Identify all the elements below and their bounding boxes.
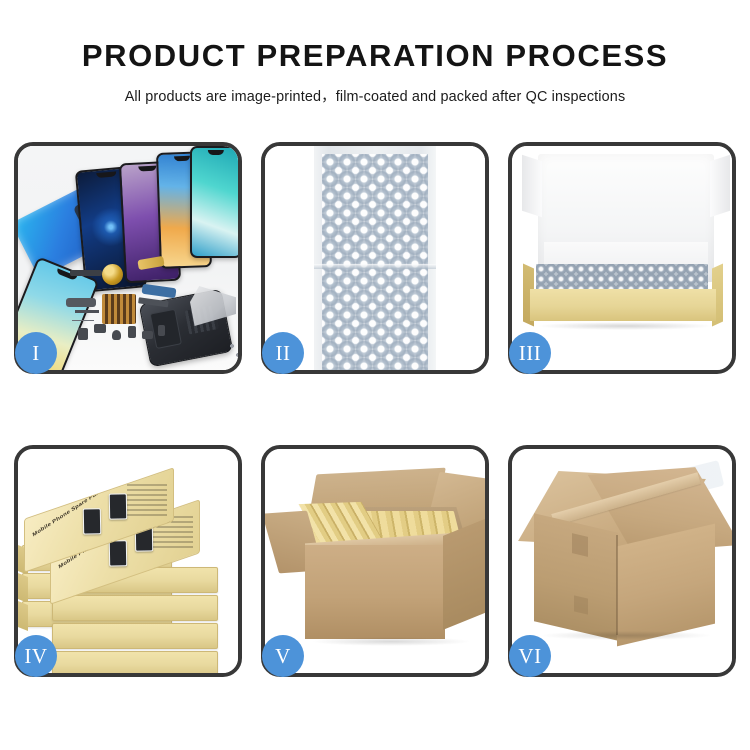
carton-handle-tab <box>574 595 588 614</box>
panel-step-5: V <box>261 445 489 677</box>
carton-handle-tab <box>572 533 588 557</box>
box-shadow <box>536 322 714 330</box>
carton-front-face <box>305 545 445 639</box>
phone-notch <box>174 156 190 162</box>
inner-box-front <box>530 289 716 321</box>
panel-3-image <box>512 146 732 370</box>
ribbon-connector-part <box>70 270 102 276</box>
chip-array-part <box>102 294 136 324</box>
panel-step-4: Mobile Phone Spare Parts Mobile Phone Sp… <box>14 445 242 677</box>
phone-notch <box>208 150 224 155</box>
panel-step-1: I <box>14 142 242 374</box>
phone-notch <box>96 171 116 178</box>
carton-corner-seam <box>616 535 618 635</box>
carton-shadow <box>311 637 471 646</box>
screws-part <box>228 342 238 360</box>
carton-side-face <box>617 524 715 647</box>
retail-box <box>52 651 218 673</box>
page-title: PRODUCT PREPARATION PROCESS <box>0 38 750 74</box>
carton-shadow <box>542 631 710 640</box>
panel-2-image <box>265 146 485 370</box>
carton-side-face <box>443 518 485 630</box>
panel-step-6: VI <box>508 445 736 677</box>
panel-step-3: III <box>508 142 736 374</box>
process-steps-grid: I II <box>14 142 736 682</box>
step-badge-1: I <box>15 332 57 374</box>
speaker-coil-part <box>102 264 123 285</box>
step-badge-2: II <box>262 332 304 374</box>
box-spec-list <box>127 484 167 518</box>
panel-step-2: II <box>261 142 489 374</box>
panel-4-image: Mobile Phone Spare Parts Mobile Phone Sp… <box>18 449 238 673</box>
box-artwork-screen <box>83 508 101 534</box>
flex-cable-part <box>66 298 96 307</box>
step-badge-6: VI <box>509 635 551 677</box>
retail-box <box>52 595 218 621</box>
phone-notch <box>138 166 156 172</box>
box-artwork-screen <box>109 540 127 566</box>
step-badge-3: III <box>509 332 551 374</box>
bubble-pattern <box>322 154 428 370</box>
step-badge-5: V <box>262 635 304 677</box>
open-shipping-carton <box>265 449 485 673</box>
page-subtitle: All products are image-printed，film-coat… <box>0 85 750 106</box>
misc-small-parts <box>78 322 178 352</box>
phone-display-teal <box>190 146 238 258</box>
box-artwork-screen <box>109 493 127 519</box>
panel-6-image <box>512 449 732 673</box>
product-preparation-infographic: PRODUCT PREPARATION PROCESS All products… <box>0 0 750 750</box>
carton-front-face <box>534 513 618 640</box>
retail-box <box>52 623 218 649</box>
step-badge-4: IV <box>15 635 57 677</box>
panel-5-image <box>265 449 485 673</box>
panel-1-image <box>18 146 238 370</box>
bubble-wrapped-item <box>314 146 436 370</box>
bubble-wrap-background <box>265 146 485 370</box>
header: PRODUCT PREPARATION PROCESS All products… <box>0 0 750 106</box>
bubble-wrap-seam <box>314 264 436 269</box>
retail-box-stack: Mobile Phone Spare Parts Mobile Phone Sp… <box>22 463 238 669</box>
